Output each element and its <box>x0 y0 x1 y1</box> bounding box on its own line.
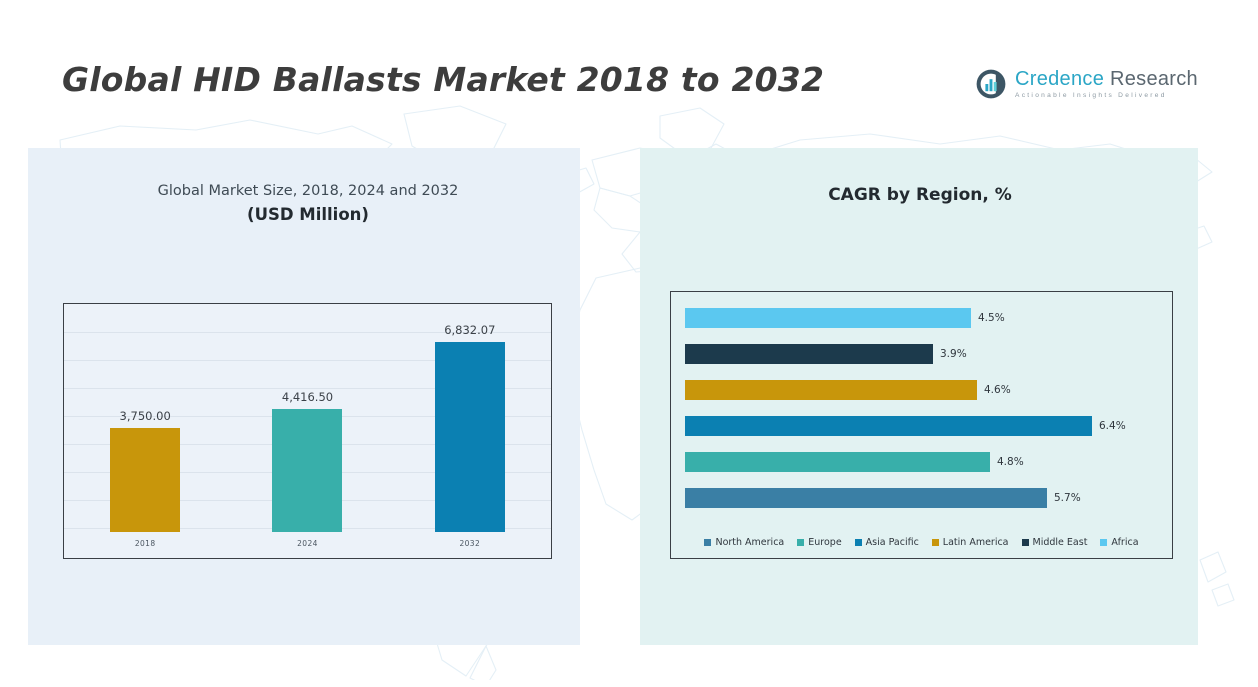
logo-name-primary: Credence <box>1015 68 1104 90</box>
legend-item-africa[interactable]: Africa <box>1100 537 1138 548</box>
global-market-size-chart: 3,750.004,416.506,832.07 201820242032 <box>63 303 552 559</box>
legend-label: Asia Pacific <box>866 537 919 548</box>
logo-tagline: Actionable Insights Delivered <box>1015 93 1198 100</box>
bar-row: 4.6% <box>685 380 1166 400</box>
bar-value-label: 4.5% <box>978 312 1005 324</box>
bar-row: 4.5% <box>685 308 1166 328</box>
bar-value-label: 3,750.00 <box>120 409 171 423</box>
bar-value-label: 6,832.07 <box>444 323 495 337</box>
legend-swatch-icon <box>797 539 804 546</box>
legend-label: Africa <box>1111 537 1138 548</box>
bar-value-label: 3.9% <box>940 348 967 360</box>
legend-label: Latin America <box>943 537 1009 548</box>
legend-swatch-icon <box>1100 539 1107 546</box>
bar-middle-east[interactable] <box>685 344 933 364</box>
bar-column: 4,416.50 <box>226 312 388 532</box>
right-chart-heading: CAGR by Region, % <box>660 185 1180 205</box>
x-axis-labels: 201820242032 <box>64 532 551 558</box>
horizontal-bars: 4.5%3.9%4.6%6.4%4.8%5.7% <box>685 308 1166 508</box>
bar-row: 6.4% <box>685 416 1166 436</box>
bar-value-label: 4,416.50 <box>282 390 333 404</box>
legend-swatch-icon <box>1022 539 1029 546</box>
legend-item-asia-pacific[interactable]: Asia Pacific <box>855 537 919 548</box>
legend-swatch-icon <box>855 539 862 546</box>
legend-item-north-america[interactable]: North America <box>704 537 784 548</box>
bar-value-label: 4.8% <box>997 456 1024 468</box>
chart-legend: North AmericaEuropeAsia PacificLatin Ame… <box>671 537 1172 548</box>
left-chart-unit: (USD Million) <box>68 205 548 224</box>
bar-north-america[interactable] <box>685 488 1047 508</box>
cagr-by-region-chart: 4.5%3.9%4.6%6.4%4.8%5.7% North AmericaEu… <box>670 291 1173 559</box>
bar-asia-pacific[interactable] <box>685 416 1092 436</box>
bar-value-label: 5.7% <box>1054 492 1081 504</box>
bar-latin-america[interactable] <box>685 380 977 400</box>
x-tick-2018: 2018 <box>64 532 226 558</box>
legend-item-europe[interactable]: Europe <box>797 537 841 548</box>
logo-name-secondary: Research <box>1110 68 1198 90</box>
legend-item-middle-east[interactable]: Middle East <box>1022 537 1088 548</box>
bar-2018[interactable] <box>110 428 180 532</box>
legend-item-latin-america[interactable]: Latin America <box>932 537 1009 548</box>
x-tick-2024: 2024 <box>226 532 388 558</box>
bar-column: 3,750.00 <box>64 312 226 532</box>
bar-2024[interactable] <box>272 409 342 532</box>
bar-value-label: 4.6% <box>984 384 1011 396</box>
bar-value-label: 6.4% <box>1099 420 1126 432</box>
legend-label: Europe <box>808 537 841 548</box>
brand-logo: Credence Research Actionable Insights De… <box>975 68 1198 100</box>
infographic-page: Global HID Ballasts Market 2018 to 2032 … <box>0 0 1258 687</box>
bar-row: 3.9% <box>685 344 1166 364</box>
legend-swatch-icon <box>704 539 711 546</box>
bar-row: 4.8% <box>685 452 1166 472</box>
bar-chart-circle-icon <box>975 68 1007 100</box>
left-chart-heading: Global Market Size, 2018, 2024 and 2032 … <box>68 183 548 224</box>
bar-row: 5.7% <box>685 488 1166 508</box>
legend-swatch-icon <box>932 539 939 546</box>
legend-label: North America <box>715 537 784 548</box>
legend-label: Middle East <box>1033 537 1088 548</box>
vertical-bars: 3,750.004,416.506,832.07 <box>64 312 551 532</box>
x-tick-2032: 2032 <box>389 532 551 558</box>
bar-africa[interactable] <box>685 308 971 328</box>
right-chart-title: CAGR by Region, % <box>660 185 1180 205</box>
left-plot-area: 3,750.004,416.506,832.07 <box>64 304 551 532</box>
left-chart-subtitle: Global Market Size, 2018, 2024 and 2032 <box>68 183 548 199</box>
page-title: Global HID Ballasts Market 2018 to 2032 <box>62 60 824 99</box>
bar-europe[interactable] <box>685 452 990 472</box>
bar-column: 6,832.07 <box>389 312 551 532</box>
bar-2032[interactable] <box>435 342 505 532</box>
